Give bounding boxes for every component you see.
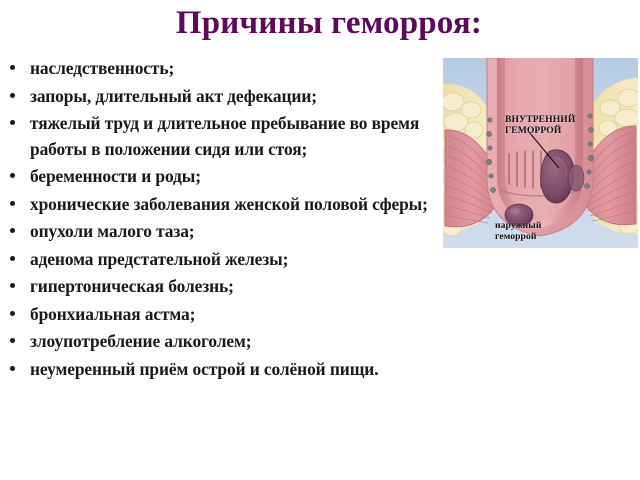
bullet-dot-icon — [10, 311, 15, 316]
external-hemorrhoid-label-line2: геморрой — [495, 231, 542, 242]
internal-hemorrhoid-label-line1: ВНУТРЕННИЙ — [505, 114, 575, 125]
bullet-dot-icon — [10, 93, 15, 98]
list-item: наследственность; — [0, 56, 448, 82]
list-item-label: бронхиальная астма; — [30, 304, 195, 324]
list-item: бронхиальная астма; — [0, 302, 448, 328]
list-item: тяжелый труд и длительное пребывание во … — [0, 111, 448, 162]
external-hemorrhoid-label-line1: наружный — [495, 220, 542, 231]
list-item: злоупотребление алкоголем; — [0, 329, 448, 355]
list-item-label: тяжелый труд и длительное пребывание во … — [30, 113, 419, 159]
external-hemorrhoid-label: наружный геморрой — [495, 220, 542, 242]
slide-root: Причины геморроя: наследственность; запо… — [0, 0, 640, 480]
list-item-label: беременности и роды; — [30, 166, 201, 186]
list-item: аденома предстательной железы; — [0, 247, 448, 273]
list-item: неумеренный приём острой и солёной пищи. — [0, 357, 448, 383]
causes-list: наследственность; запоры, длительный акт… — [0, 56, 448, 384]
bullet-dot-icon — [10, 228, 15, 233]
list-item-label: аденома предстательной железы; — [30, 249, 288, 269]
list-item: запоры, длительный акт дефекации; — [0, 84, 448, 110]
list-item: хронические заболевания женской половой … — [0, 192, 448, 218]
list-item: опухоли малого таза; — [0, 219, 448, 245]
bullet-dot-icon — [10, 173, 15, 178]
secondary-hemorrhoid-node — [568, 165, 584, 191]
hemorrhoid-anatomy-illustration: ВНУТРЕННИЙ ГЕМОРРОЙ наружный геморрой — [443, 58, 638, 248]
list-item: беременности и роды; — [0, 164, 448, 190]
page-title: Причины геморроя: — [0, 4, 640, 42]
bullet-dot-icon — [10, 65, 15, 70]
bullet-dot-icon — [10, 283, 15, 288]
bullet-dot-icon — [10, 201, 15, 206]
list-item-label: запоры, длительный акт дефекации; — [30, 86, 317, 106]
list-item-label: хронические заболевания женской половой … — [30, 194, 428, 214]
list-item-label: гипертоническая болезнь; — [30, 276, 234, 296]
list-item: гипертоническая болезнь; — [0, 274, 448, 300]
bullet-dot-icon — [10, 338, 15, 343]
list-item-label: неумеренный приём острой и солёной пищи. — [30, 359, 378, 379]
list-item-label: опухоли малого таза; — [30, 221, 195, 241]
list-item-label: злоупотребление алкоголем; — [30, 331, 251, 351]
bullet-dot-icon — [10, 366, 15, 371]
internal-hemorrhoid-label-line2: ГЕМОРРОЙ — [505, 125, 575, 136]
bullet-dot-icon — [10, 120, 15, 125]
internal-hemorrhoid-label: ВНУТРЕННИЙ ГЕМОРРОЙ — [505, 114, 575, 136]
rectal-canal — [487, 58, 593, 236]
bullet-dot-icon — [10, 256, 15, 261]
list-item-label: наследственность; — [30, 58, 174, 78]
